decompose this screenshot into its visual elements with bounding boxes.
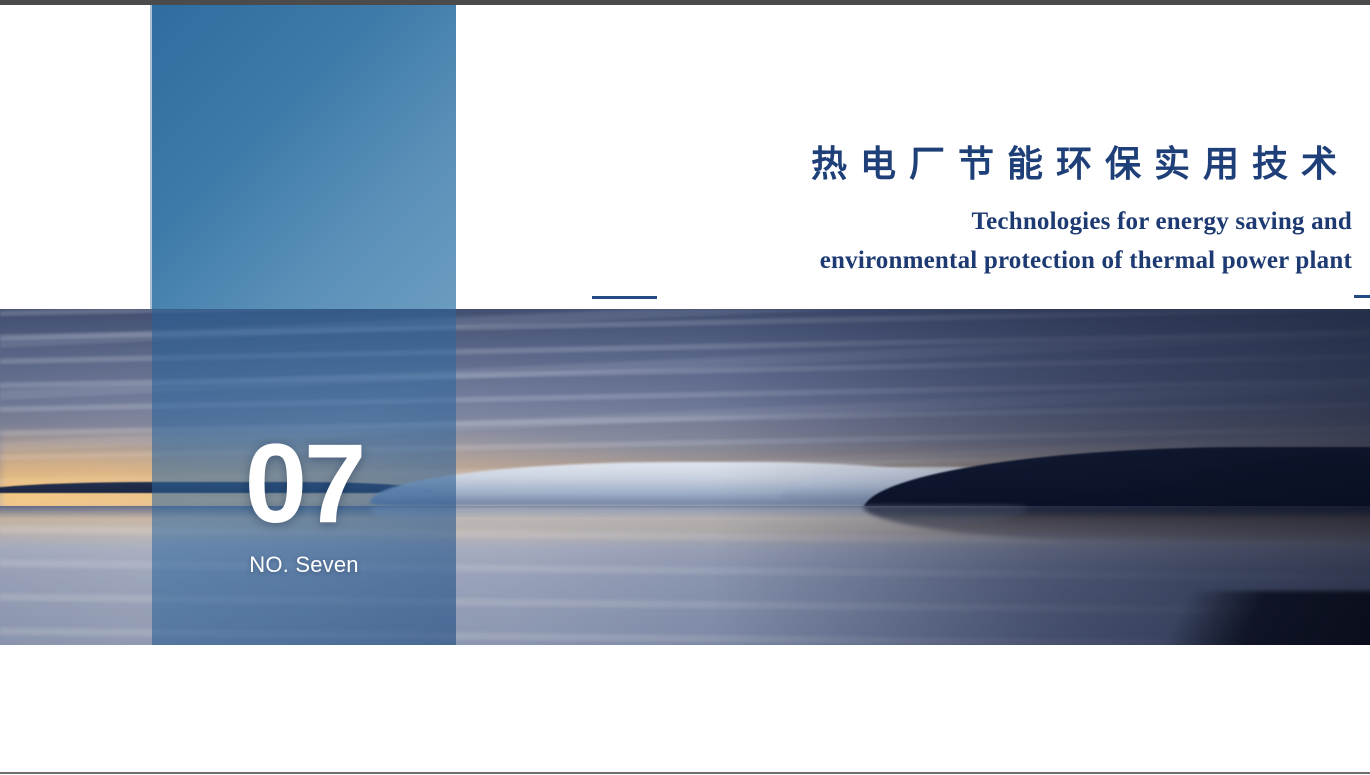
page-subtitle-line-2: environmental protection of thermal powe… (532, 242, 1352, 281)
panel-solid-upper (152, 0, 456, 309)
page-title-cn: 热电厂节能环保实用技术 (532, 142, 1352, 187)
section-number-block: 07 NO. Seven (152, 430, 456, 578)
section-number: 07 (152, 430, 456, 538)
section-number-caption: NO. Seven (152, 552, 456, 578)
slide-canvas: 07 NO. Seven 热电厂节能环保实用技术 Technologies fo… (0, 0, 1370, 775)
bottom-edge-strip (0, 772, 1370, 774)
top-edge-strip (0, 0, 1370, 5)
page-subtitle-line-1: Technologies for energy saving and (532, 203, 1352, 242)
title-rule-right (1354, 295, 1370, 298)
title-rule-left (592, 296, 657, 299)
title-block: 热电厂节能环保实用技术 Technologies for energy savi… (532, 142, 1352, 281)
